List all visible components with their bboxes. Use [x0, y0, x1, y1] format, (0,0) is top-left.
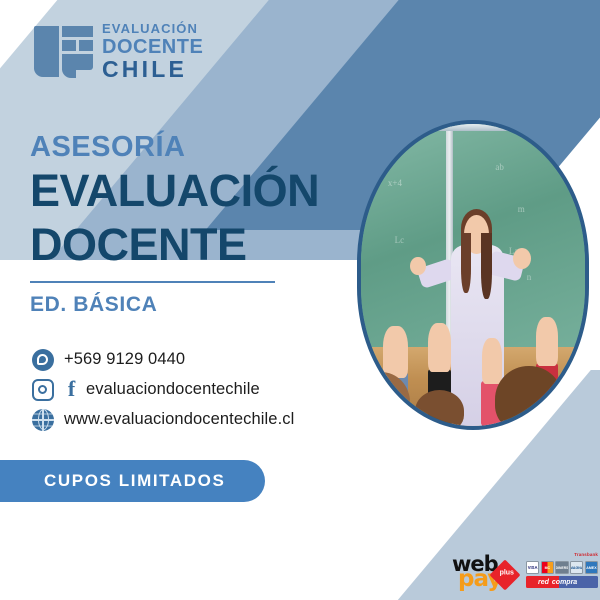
logo-line-3: CHILE: [102, 58, 203, 81]
logo-line-2: DOCENTE: [102, 37, 203, 57]
card-logos: Transbank VISA MC DINERS MAGNA AMEX red …: [526, 554, 598, 588]
student-raised-hand: [536, 317, 558, 365]
cta-label: CUPOS LIMITADOS: [44, 471, 225, 491]
transbank-label: Transbank: [574, 552, 598, 557]
globe-icon: [32, 409, 54, 431]
mastercard-icon: MC: [541, 561, 554, 574]
redcompra-word-1: red: [538, 579, 549, 586]
instagram-icon: [32, 379, 54, 401]
subtitle-text: ED. BÁSICA: [30, 293, 350, 317]
student-raised-hand: [428, 323, 450, 371]
brand-logo: EVALUACIÓN DOCENTE CHILE: [34, 22, 203, 81]
contact-list: +569 9129 0440 f evaluaciondocentechile …: [32, 346, 294, 436]
kicker-text: ASESORÍA: [30, 132, 350, 162]
open-book-icon: [34, 26, 93, 78]
cupos-limitados-button[interactable]: CUPOS LIMITADOS: [0, 460, 265, 502]
website-url: www.evaluaciondocentechile.cl: [64, 410, 294, 429]
webpay-plus-label: plus: [496, 570, 518, 577]
facebook-icon: f: [64, 379, 79, 401]
student-head: [415, 390, 464, 430]
magna-card-icon: MAGNA: [570, 561, 583, 574]
diners-card-icon: DINERS: [555, 561, 568, 574]
teacher-left-hand: [410, 257, 426, 275]
contact-row-website[interactable]: www.evaluaciondocentechile.cl: [32, 406, 294, 433]
teacher-hair-right: [481, 233, 492, 299]
redcompra-logo: red compra: [526, 576, 598, 588]
classroom-photo: 12x+4 abm LcLa on: [357, 120, 589, 430]
logo-line-1: EVALUACIÓN: [102, 22, 203, 35]
title-line-2: DOCENTE: [30, 220, 350, 270]
redcompra-word-2: compra: [552, 579, 577, 586]
teacher-hair-left: [461, 233, 471, 293]
divider-rule: [30, 281, 275, 283]
whatsapp-icon: [32, 349, 54, 371]
contact-row-phone[interactable]: +569 9129 0440: [32, 346, 294, 373]
student-raised-hand: [383, 326, 408, 377]
contact-row-social[interactable]: f evaluaciondocentechile: [32, 376, 294, 403]
brand-wordmark: EVALUACIÓN DOCENTE CHILE: [102, 22, 203, 81]
payment-methods: web pay plus Transbank VISA MC DINERS MA…: [452, 552, 598, 590]
student-raised-hand: [482, 338, 502, 383]
poster-canvas: EVALUACIÓN DOCENTE CHILE ASESORÍA EVALUA…: [0, 0, 600, 600]
amex-card-icon: AMEX: [585, 561, 598, 574]
phone-number: +569 9129 0440: [64, 350, 185, 369]
visa-card-icon: VISA: [526, 561, 539, 574]
social-handle: evaluaciondocentechile: [86, 380, 260, 399]
student-head: [495, 366, 562, 430]
webpay-logo: web pay plus: [452, 552, 514, 590]
headline-block: ASESORÍA EVALUACIÓN DOCENTE ED. BÁSICA: [30, 132, 350, 317]
title-line-1: EVALUACIÓN: [30, 166, 350, 216]
